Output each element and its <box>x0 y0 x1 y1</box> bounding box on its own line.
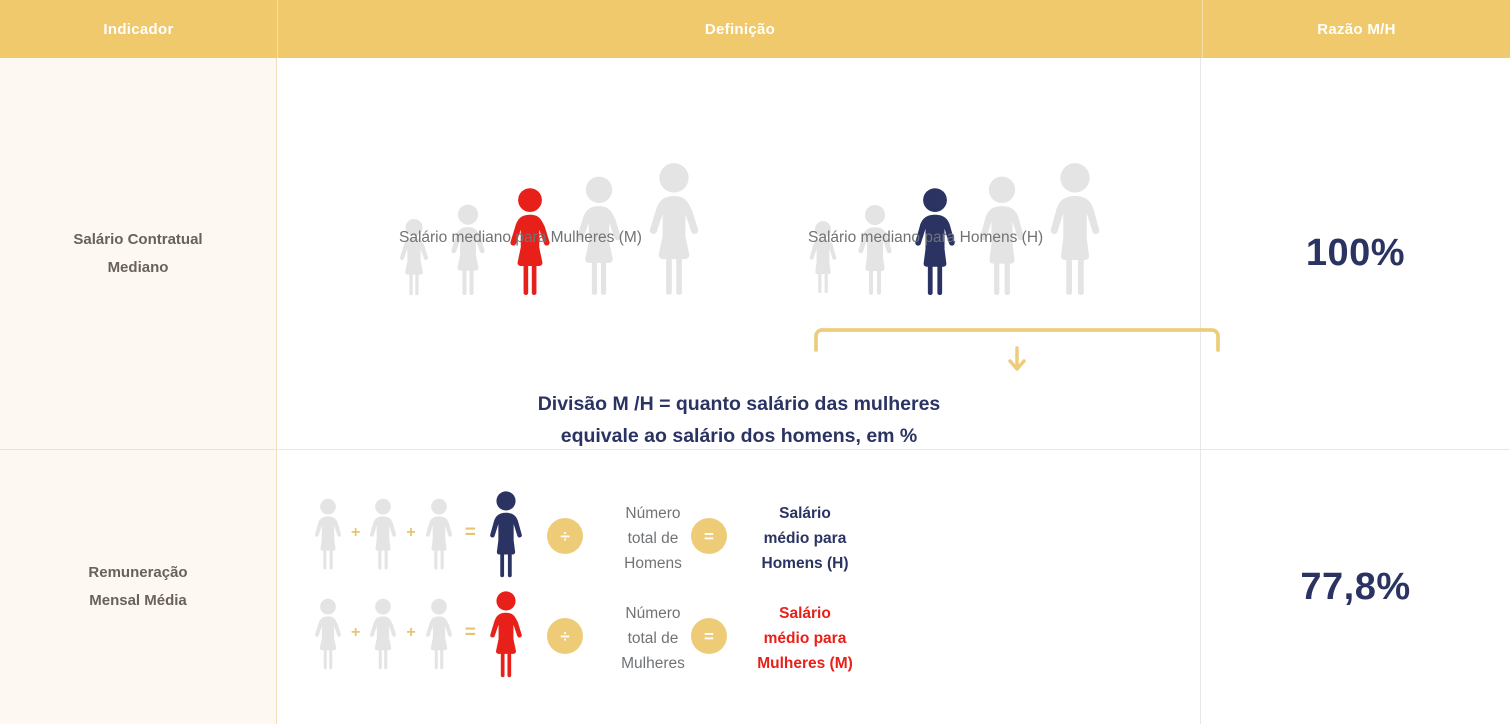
divide-circle-icon-men: ÷ <box>547 518 583 554</box>
formula-line-2: equivale ao salário dos homens, em % <box>277 420 1201 452</box>
woman-figure-icon <box>420 596 458 670</box>
man-figure-icon <box>420 496 458 570</box>
women-average-salary-label: Salário médio para Mulheres (M) <box>743 602 867 676</box>
woman-figure-icon <box>643 158 705 296</box>
row-label-median-salary: Salário Contratual Mediano <box>0 58 277 449</box>
woman-figure-icon <box>447 201 489 296</box>
divide-circle-icon-women: ÷ <box>547 618 583 654</box>
men-figure-group <box>807 158 1105 296</box>
column-header-definition: Definição <box>277 0 1203 58</box>
ratio-value-monthly-pay: 77,8% <box>1201 449 1510 724</box>
definition-cell-median-salary: Salário mediano para Mulheres (M) <box>277 58 1201 449</box>
women-total-line-3: Mulheres <box>601 652 705 677</box>
ratio-value-median-salary: 100% <box>1201 58 1510 449</box>
equals-sign: = <box>465 522 476 544</box>
women-total-line-1: Número <box>601 602 705 627</box>
caption-men-median: Salário mediano para Homens (H) <box>808 229 1043 247</box>
bracket-down-arrow-icon <box>812 326 1222 374</box>
men-total-line-2: total de <box>601 527 705 552</box>
row-label-line-2: Mediano <box>73 254 202 282</box>
table-header-row: Indicador Definição Razão M/H <box>0 0 1510 58</box>
equals-circle-icon-men: = <box>691 518 727 554</box>
man-figure-icon <box>1045 158 1105 296</box>
plus-sign: + <box>406 524 415 542</box>
man-figure-icon <box>364 496 402 570</box>
row-label-line-1: Salário Contratual <box>73 226 202 254</box>
women-total-label: Número total de Mulheres <box>601 602 705 676</box>
woman-figure-highlight-icon <box>483 588 529 678</box>
plus-sign: + <box>406 624 415 642</box>
woman-figure-icon <box>397 216 431 296</box>
column-header-indicator: Indicador <box>0 0 277 58</box>
men-average-salary-label: Salário médio para Homens (H) <box>743 502 867 576</box>
men-salary-line-2: médio para <box>743 527 867 552</box>
row-label-line-2: Mensal Média <box>88 587 187 615</box>
men-average-equation: + + = <box>309 488 529 578</box>
row-label-monthly-pay: Remuneração Mensal Média <box>0 449 277 724</box>
women-total-line-2: total de <box>601 627 705 652</box>
men-total-label: Número total de Homens <box>601 502 705 576</box>
equals-sign: = <box>465 622 476 644</box>
definition-cell-monthly-pay: + + = ÷ Número total de Homens = <box>277 449 1201 724</box>
men-salary-line-1: Salário <box>743 502 867 527</box>
plus-sign: + <box>351 624 360 642</box>
women-average-equation: + + = <box>309 588 529 678</box>
row-label-line-1: Remuneração <box>88 559 187 587</box>
table-row: Salário Contratual Mediano <box>0 58 1510 449</box>
man-figure-icon <box>855 201 895 296</box>
formula-line-1: Divisão M /H = quanto salário das mulher… <box>277 388 1201 420</box>
men-total-line-1: Número <box>601 502 705 527</box>
women-salary-line-1: Salário <box>743 602 867 627</box>
woman-figure-icon <box>309 596 347 670</box>
men-salary-line-3: Homens (H) <box>743 552 867 577</box>
formula-median-salary: Divisão M /H = quanto salário das mulher… <box>277 388 1201 452</box>
women-figure-group <box>397 158 705 296</box>
women-salary-line-2: médio para <box>743 627 867 652</box>
column-header-ratio: Razão M/H <box>1203 0 1510 58</box>
man-figure-icon <box>309 496 347 570</box>
indicator-table: Indicador Definição Razão M/H Salário Co… <box>0 0 1510 724</box>
table-row: Remuneração Mensal Média + + = <box>0 449 1510 724</box>
man-figure-highlight-icon <box>483 488 529 578</box>
caption-women-median: Salário mediano para Mulheres (M) <box>399 229 642 247</box>
woman-figure-icon <box>364 596 402 670</box>
equals-circle-icon-women: = <box>691 618 727 654</box>
man-figure-icon <box>807 216 839 296</box>
men-total-line-3: Homens <box>601 552 705 577</box>
women-salary-line-3: Mulheres (M) <box>743 652 867 677</box>
plus-sign: + <box>351 524 360 542</box>
